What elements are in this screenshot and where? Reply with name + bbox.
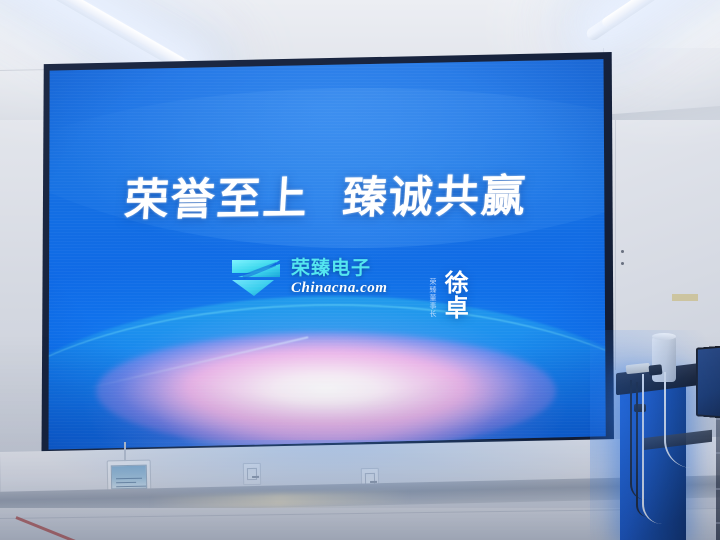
- logo-company-cn: 荣臻电子: [291, 259, 387, 278]
- slogan-headline: 荣誉至上臻诚共赢: [44, 159, 608, 229]
- signature-block: 荣臻董事长 徐卓: [429, 270, 465, 320]
- slogan-left: 荣誉至上: [123, 174, 310, 225]
- wall-outlet-1[interactable]: [243, 463, 261, 485]
- logo-text-block: 荣臻电子 Chinacna.com: [291, 259, 387, 296]
- wall-screw-dot-lower: [621, 262, 624, 265]
- av-cart[interactable]: [620, 360, 702, 540]
- screen-panel[interactable]: 荣誉至上臻诚共赢: [44, 58, 608, 452]
- cable-strand-white-2: [664, 372, 692, 468]
- cable-strand-white: [642, 374, 662, 524]
- logo-company-en: Chinacna.com: [291, 281, 387, 296]
- laptop[interactable]: [696, 344, 720, 420]
- screenshot-root: 荣誉至上臻诚共赢: [0, 0, 720, 540]
- company-logo-lockup: 荣臻电子 Chinacna.com: [230, 256, 387, 298]
- wall-corner-line: [615, 120, 617, 370]
- slogan-right: 臻诚共赢: [341, 172, 528, 223]
- control-panel-display: [111, 465, 147, 490]
- pink-ellipse-glow: [96, 332, 556, 450]
- wall-sticker-label: [672, 294, 698, 301]
- chinacna-z-mark-icon: [230, 256, 282, 298]
- cylindrical-speaker-top: [652, 333, 676, 340]
- led-video-wall[interactable]: 荣誉至上臻诚共赢: [38, 52, 614, 458]
- signature-title: 荣臻董事长: [429, 278, 436, 320]
- signature-name: 徐卓: [440, 270, 465, 320]
- wall-screw-dot-upper: [621, 250, 624, 253]
- control-panel-conduit: [124, 442, 126, 462]
- wall-outlet-1-inner: [247, 468, 257, 480]
- equipment-rack: [716, 400, 720, 540]
